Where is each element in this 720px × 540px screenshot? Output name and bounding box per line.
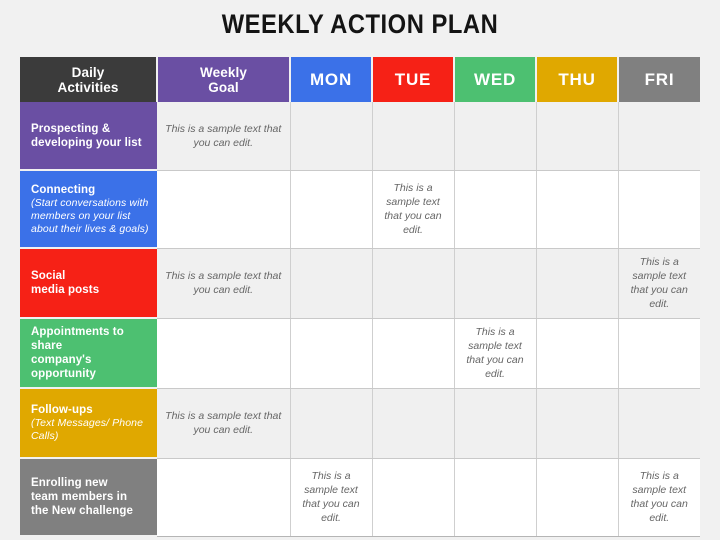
cell-appointments-fri[interactable] [618, 318, 700, 388]
table-row: Socialmedia postsThis is a sample text t… [20, 248, 700, 318]
column-header-mon[interactable]: MON [290, 57, 372, 102]
cell-enrolling-goal[interactable] [157, 458, 290, 536]
cell-connecting-wed[interactable] [454, 170, 536, 248]
table-row: Prospecting &developing your listThis is… [20, 102, 700, 170]
cell-prospecting-tue[interactable] [372, 102, 454, 170]
activity-title: Appointments to sharecompany's opportuni… [31, 325, 157, 381]
header-line-1: Daily [23, 65, 153, 80]
table-row: Connecting(Start conversations with memb… [20, 170, 700, 248]
activity-cell-follow-ups[interactable]: Follow-ups(Text Messages/ Phone Calls) [20, 388, 157, 458]
cell-social-media-posts-tue[interactable] [372, 248, 454, 318]
cell-appointments-goal[interactable] [157, 318, 290, 388]
cell-follow-ups-tue[interactable] [372, 388, 454, 458]
cell-social-media-posts-goal[interactable]: This is a sample text that you can edit. [157, 248, 290, 318]
weekly-action-plan-table: Daily Activities Weekly Goal MON TUE [20, 57, 700, 537]
column-header-thu[interactable]: THU [536, 57, 618, 102]
column-header-tue[interactable]: TUE [372, 57, 454, 102]
cell-enrolling-thu[interactable] [536, 458, 618, 536]
activity-cell-appointments[interactable]: Appointments to sharecompany's opportuni… [20, 318, 157, 388]
activity-title: Enrolling newteam members inthe New chal… [31, 476, 157, 518]
cell-prospecting-fri[interactable] [618, 102, 700, 170]
cell-connecting-goal[interactable] [157, 170, 290, 248]
column-header-wed[interactable]: WED [454, 57, 536, 102]
cell-prospecting-mon[interactable] [290, 102, 372, 170]
cell-follow-ups-goal[interactable]: This is a sample text that you can edit. [157, 388, 290, 458]
header-row: Daily Activities Weekly Goal MON TUE [20, 57, 700, 102]
cell-follow-ups-fri[interactable] [618, 388, 700, 458]
header-label: TUE [376, 70, 450, 90]
header-label: THU [540, 70, 614, 90]
cell-appointments-tue[interactable] [372, 318, 454, 388]
activity-subtitle: (Start conversations with members on you… [31, 197, 157, 236]
activity-subtitle: (Text Messages/ Phone Calls) [31, 417, 157, 443]
header-label: FRI [622, 70, 697, 90]
activity-cell-prospecting[interactable]: Prospecting &developing your list [20, 102, 157, 170]
activity-cell-enrolling[interactable]: Enrolling newteam members inthe New chal… [20, 458, 157, 536]
column-header-weekly-goal[interactable]: Weekly Goal [157, 57, 290, 102]
weekly-action-plan-page: WEEKLY ACTION PLAN Daily Activities [0, 0, 720, 540]
table-row: Follow-ups(Text Messages/ Phone Calls)Th… [20, 388, 700, 458]
cell-social-media-posts-thu[interactable] [536, 248, 618, 318]
cell-enrolling-tue[interactable] [372, 458, 454, 536]
cell-social-media-posts-wed[interactable] [454, 248, 536, 318]
activity-title: Connecting [31, 183, 157, 197]
cell-enrolling-mon[interactable]: This is a sample text that you can edit. [290, 458, 372, 536]
cell-appointments-mon[interactable] [290, 318, 372, 388]
page-title: WEEKLY ACTION PLAN [43, 9, 677, 40]
cell-appointments-thu[interactable] [536, 318, 618, 388]
cell-enrolling-wed[interactable] [454, 458, 536, 536]
column-header-fri[interactable]: FRI [618, 57, 700, 102]
cell-social-media-posts-mon[interactable] [290, 248, 372, 318]
column-header-daily-activities[interactable]: Daily Activities [20, 57, 157, 102]
cell-follow-ups-thu[interactable] [536, 388, 618, 458]
cell-connecting-thu[interactable] [536, 170, 618, 248]
header-line-1: Weekly [161, 65, 286, 80]
cell-enrolling-fri[interactable]: This is a sample text that you can edit. [618, 458, 700, 536]
activity-title: Prospecting &developing your list [31, 122, 157, 150]
cell-prospecting-goal[interactable]: This is a sample text that you can edit. [157, 102, 290, 170]
activity-title: Follow-ups [31, 403, 157, 417]
activity-cell-connecting[interactable]: Connecting(Start conversations with memb… [20, 170, 157, 248]
header-label: MON [294, 70, 368, 90]
cell-follow-ups-mon[interactable] [290, 388, 372, 458]
header-line-2: Goal [161, 80, 286, 95]
cell-follow-ups-wed[interactable] [454, 388, 536, 458]
table-header: Daily Activities Weekly Goal MON TUE [20, 57, 700, 102]
table-body: Prospecting &developing your listThis is… [20, 102, 700, 536]
cell-connecting-tue[interactable]: This is a sample text that you can edit. [372, 170, 454, 248]
header-label: WED [458, 70, 532, 90]
table-row: Enrolling newteam members inthe New chal… [20, 458, 700, 536]
activity-cell-social-media-posts[interactable]: Socialmedia posts [20, 248, 157, 318]
header-line-2: Activities [23, 80, 153, 95]
activity-title: Socialmedia posts [31, 269, 157, 297]
cell-connecting-mon[interactable] [290, 170, 372, 248]
cell-connecting-fri[interactable] [618, 170, 700, 248]
cell-prospecting-wed[interactable] [454, 102, 536, 170]
cell-social-media-posts-fri[interactable]: This is a sample text that you can edit. [618, 248, 700, 318]
cell-prospecting-thu[interactable] [536, 102, 618, 170]
cell-appointments-wed[interactable]: This is a sample text that you can edit. [454, 318, 536, 388]
table-row: Appointments to sharecompany's opportuni… [20, 318, 700, 388]
